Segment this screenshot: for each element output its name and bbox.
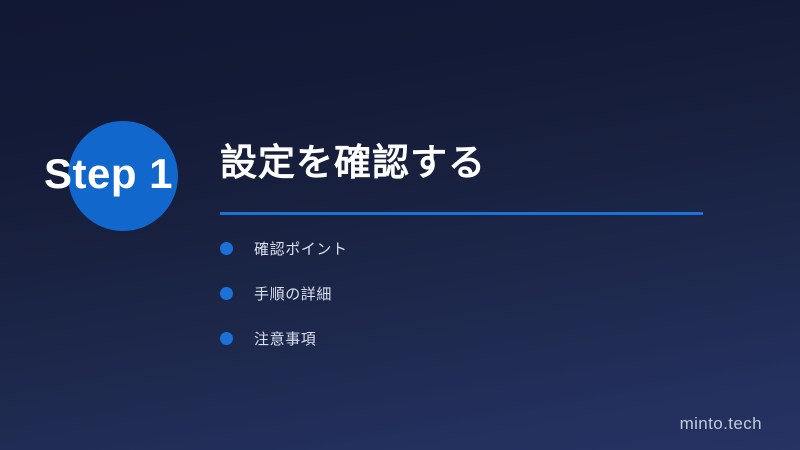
- bullet-dot-icon: [220, 332, 233, 345]
- page-title: 設定を確認する: [220, 140, 720, 186]
- title-divider: [220, 212, 703, 215]
- list-item-label: 注意事項: [254, 328, 316, 349]
- list-item-label: 手順の詳細: [254, 283, 332, 304]
- list-item-label: 確認ポイント: [254, 238, 348, 259]
- list-item: 手順の詳細: [220, 283, 700, 304]
- slide-canvas: Step 1 設定を確認する 確認ポイント 手順の詳細 注意事項 minto.t…: [0, 0, 800, 450]
- list-item: 注意事項: [220, 328, 700, 349]
- title-block: 設定を確認する: [220, 140, 720, 186]
- bullet-dot-icon: [220, 287, 233, 300]
- footer-brand: minto.tech: [680, 414, 762, 434]
- bullet-list: 確認ポイント 手順の詳細 注意事項: [220, 238, 700, 373]
- bullet-dot-icon: [220, 242, 233, 255]
- step-badge-label: Step 1: [44, 146, 204, 202]
- list-item: 確認ポイント: [220, 238, 700, 259]
